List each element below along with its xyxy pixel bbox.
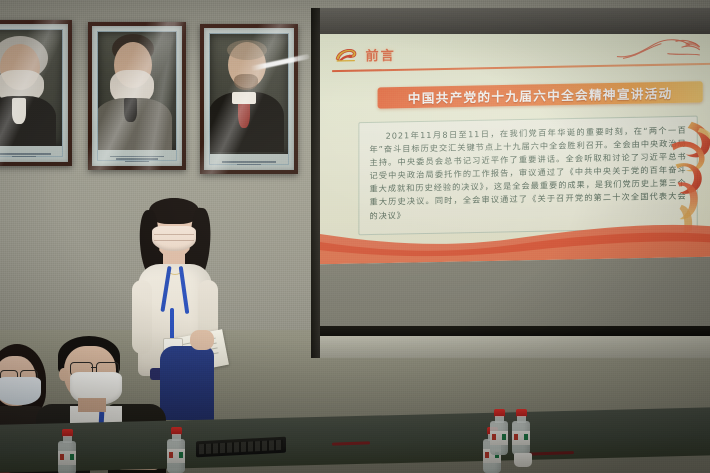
bottle-label	[512, 431, 530, 445]
portrait-image	[98, 32, 176, 150]
ear	[59, 368, 68, 381]
slide-title-banner: 中国共产党的十九届六中全会精神宣讲活动	[378, 81, 703, 108]
bottle-label	[490, 431, 508, 445]
portrait-caption	[210, 157, 288, 169]
bottle-label	[58, 451, 76, 465]
slide-header-title: 前言	[365, 44, 395, 64]
bottle-label	[167, 449, 185, 463]
projected-slide: 前言	[320, 34, 710, 264]
face-mask	[152, 226, 196, 251]
water-bottle	[490, 409, 508, 459]
photo-scene: 前言	[0, 0, 710, 473]
water-bottle	[167, 427, 185, 473]
engels-portrait	[88, 22, 186, 170]
water-bottle	[58, 429, 76, 473]
screen-lower-wall	[320, 336, 710, 358]
portrait-image	[0, 30, 62, 146]
screen-bottom-bar	[320, 326, 710, 336]
water-bottle	[512, 409, 530, 453]
portrait-image	[210, 34, 288, 154]
red-wave-ribbon	[320, 212, 710, 264]
screen-surface: 前言	[320, 34, 710, 326]
lenin-portrait	[200, 24, 298, 174]
cpc-emblem-icon	[334, 46, 358, 64]
portrait-caption	[98, 153, 176, 165]
red-swirl-icon	[615, 37, 702, 63]
marx-portrait	[0, 20, 72, 166]
slide-title-text: 中国共产党的十九届六中全会精神宣讲活动	[408, 83, 673, 107]
hand	[190, 330, 214, 350]
slide-body-text: 2021年11月8日至11日，在我们党百年华诞的重要时刻，在“两个一百年”奋斗目…	[369, 124, 686, 223]
screen-left-rail	[311, 8, 320, 358]
screen-housing	[311, 8, 710, 34]
projector-screen: 前言	[311, 8, 710, 358]
portrait-caption	[0, 149, 62, 161]
neck	[78, 398, 106, 412]
screen-unlit-area	[320, 256, 710, 326]
paper-cup	[514, 453, 532, 467]
